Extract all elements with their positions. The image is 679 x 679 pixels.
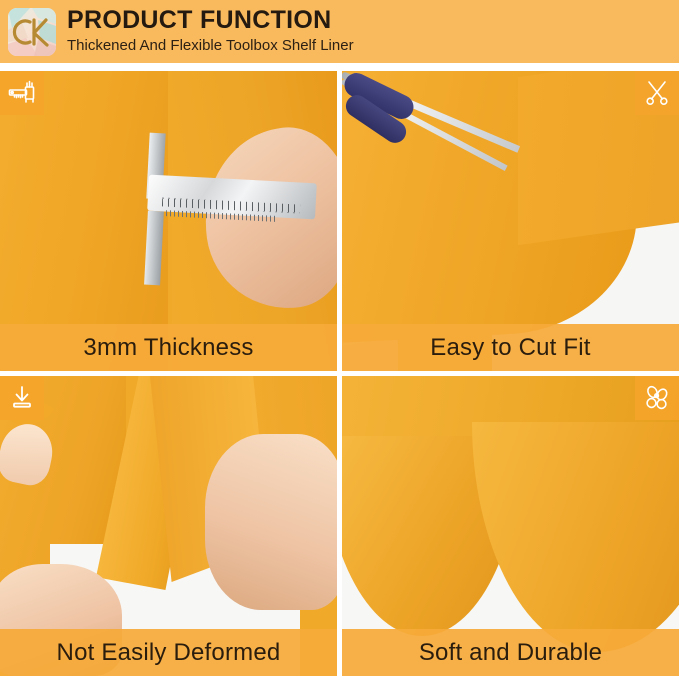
caption-text: Soft and Durable bbox=[419, 639, 602, 667]
feature-panel-easy-cut: Easy to Cut Fit bbox=[342, 71, 679, 371]
bubbles-icon bbox=[635, 376, 679, 420]
feature-grid: 3mm Thickness bbox=[0, 71, 679, 679]
caliper-icon bbox=[0, 71, 44, 115]
header-bar: PRODUCT FUNCTION Thickened And Flexible … bbox=[0, 0, 679, 63]
page-subtitle: Thickened And Flexible Toolbox Shelf Lin… bbox=[67, 36, 354, 56]
header-text-block: PRODUCT FUNCTION Thickened And Flexible … bbox=[67, 7, 354, 56]
scissors-icon bbox=[635, 71, 679, 115]
compress-arrow-icon bbox=[0, 376, 44, 420]
caption-bar-not-deformed: Not Easily Deformed bbox=[0, 629, 337, 676]
feature-panel-thickness: 3mm Thickness bbox=[0, 71, 337, 371]
feature-panel-soft-durable: Soft and Durable bbox=[342, 376, 679, 676]
product-function-infographic: PRODUCT FUNCTION Thickened And Flexible … bbox=[0, 0, 679, 679]
caption-text: Not Easily Deformed bbox=[57, 639, 281, 667]
ck-monogram-logo bbox=[8, 8, 56, 56]
caption-bar-easy-cut: Easy to Cut Fit bbox=[342, 324, 679, 371]
caption-bar-soft-durable: Soft and Durable bbox=[342, 629, 679, 676]
page-title: PRODUCT FUNCTION bbox=[67, 7, 354, 33]
caption-text: 3mm Thickness bbox=[83, 334, 253, 362]
caption-text: Easy to Cut Fit bbox=[430, 334, 590, 362]
caption-bar-thickness: 3mm Thickness bbox=[0, 324, 337, 371]
feature-panel-not-deformed: Not Easily Deformed bbox=[0, 376, 337, 676]
